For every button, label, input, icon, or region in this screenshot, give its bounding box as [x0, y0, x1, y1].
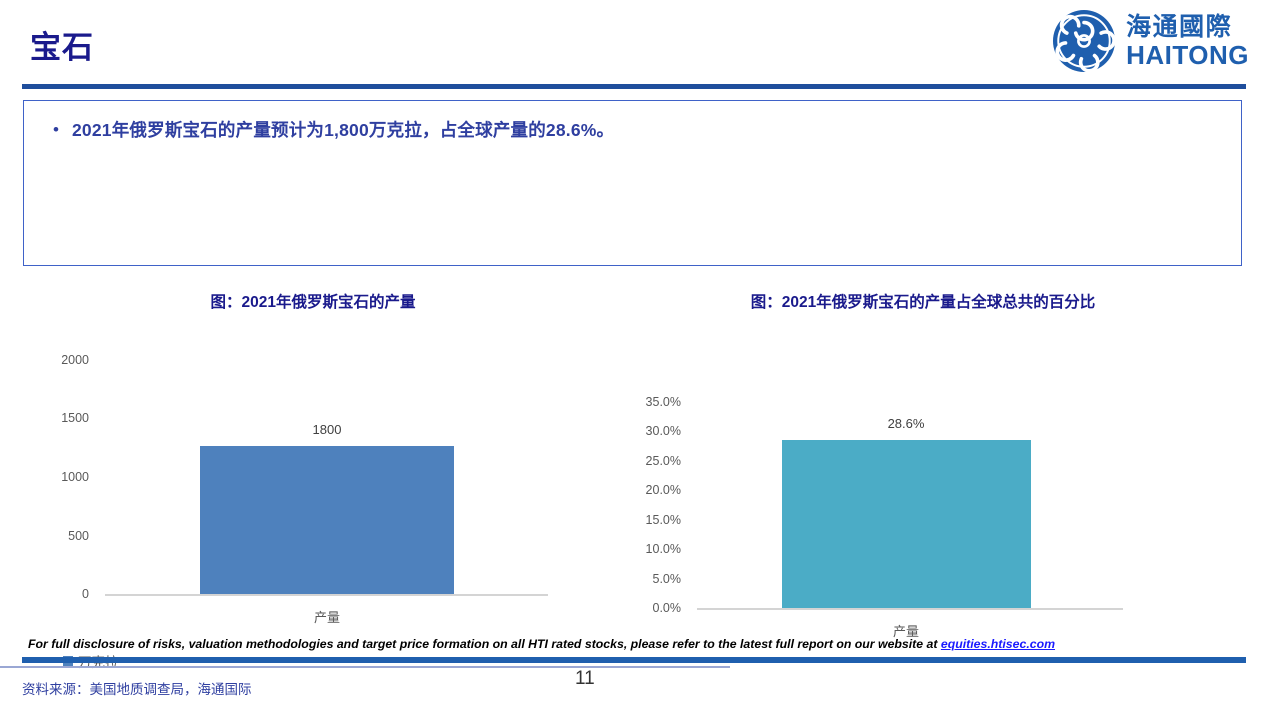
bullet-marker-icon: •: [40, 117, 72, 143]
source-text: 资料来源：美国地质调查局，海通国际: [22, 678, 252, 698]
y-tick-label: 0: [82, 587, 89, 601]
bar-production: [200, 446, 454, 594]
haitong-logo: 海通國際 HAITONG: [1051, 8, 1249, 74]
chart-right-title: 图：2021年俄罗斯宝石的产量占全球总共的百分比: [613, 290, 1233, 312]
y-tick-label: 1500: [61, 411, 89, 425]
chart-left-plot-area: 0 500 1000 1500 2000 1800 产量 万克拉: [23, 336, 603, 626]
header-divider: [22, 84, 1246, 89]
logo-chinese-text: 海通國際: [1126, 15, 1249, 40]
bar-global-share: [782, 440, 1031, 608]
y-tick-label: 30.0%: [646, 424, 681, 438]
y-tick-label: 15.0%: [646, 513, 681, 527]
chart-right-y-axis: 0.0% 5.0% 10.0% 15.0% 20.0% 25.0% 30.0% …: [613, 336, 681, 626]
disclaimer-prefix: For full disclosure of risks, valuation …: [28, 637, 941, 651]
page-title: 宝石: [30, 22, 94, 67]
page-number: 11: [575, 668, 595, 690]
source-divider: [0, 666, 730, 668]
chart-left-x-axis: [105, 594, 548, 596]
haitong-swirl-emblem-icon: [1051, 8, 1117, 74]
x-category-label: 产量: [314, 607, 340, 626]
summary-content-box: • 2021年俄罗斯宝石的产量预计为1,800万克拉，占全球产量的28.6%。: [23, 100, 1242, 266]
logo-english-text: HAITONG: [1126, 42, 1249, 68]
chart-right-plot-area: 0.0% 5.0% 10.0% 15.0% 20.0% 25.0% 30.0% …: [613, 336, 1233, 626]
chart-left-title: 图：2021年俄罗斯宝石的产量: [23, 290, 603, 312]
chart-right-x-axis: [697, 608, 1123, 610]
y-tick-label: 35.0%: [646, 395, 681, 409]
y-tick-label: 0.0%: [653, 601, 682, 615]
chart-left-y-axis: 0 500 1000 1500 2000: [23, 336, 89, 626]
y-tick-label: 10.0%: [646, 542, 681, 556]
y-tick-label: 20.0%: [646, 483, 681, 497]
bullet-text: 2021年俄罗斯宝石的产量预计为1,800万克拉，占全球产量的28.6%。: [72, 117, 614, 143]
bullet-list-item: • 2021年俄罗斯宝石的产量预计为1,800万克拉，占全球产量的28.6%。: [40, 117, 1241, 143]
bar-value-label: 1800: [313, 422, 342, 437]
y-tick-label: 25.0%: [646, 454, 681, 468]
y-tick-label: 1000: [61, 470, 89, 484]
chart-right-global-share: 图：2021年俄罗斯宝石的产量占全球总共的百分比 0.0% 5.0% 10.0%…: [613, 290, 1233, 626]
y-tick-label: 2000: [61, 353, 89, 367]
disclaimer-link[interactable]: equities.htisec.com: [941, 637, 1055, 651]
footer-divider: [22, 657, 1246, 663]
y-tick-label: 5.0%: [653, 572, 682, 586]
y-tick-label: 500: [68, 529, 89, 543]
bar-value-label: 28.6%: [888, 416, 925, 431]
chart-left-production: 图：2021年俄罗斯宝石的产量 0 500 1000 1500 2000 180…: [23, 290, 603, 626]
disclaimer-text: For full disclosure of risks, valuation …: [28, 637, 1243, 651]
